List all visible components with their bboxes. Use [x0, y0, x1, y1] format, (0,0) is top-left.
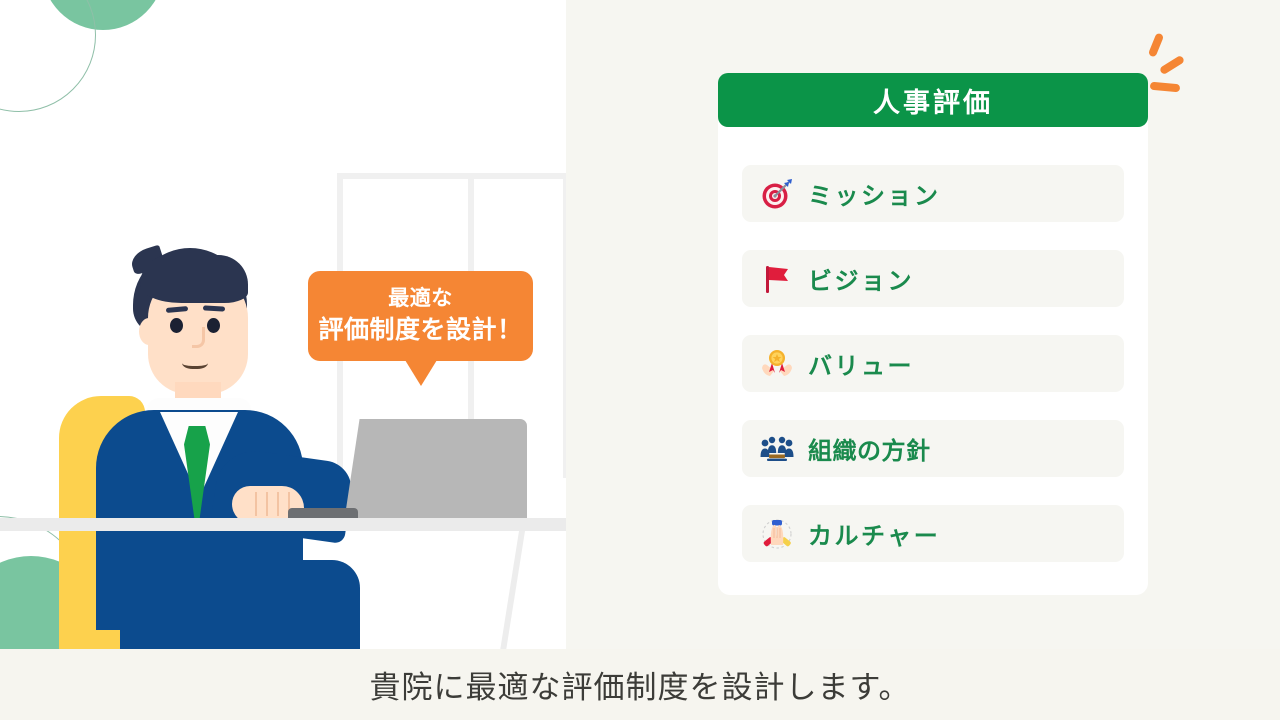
card-title: 人事評価	[873, 81, 993, 120]
person-nose	[192, 327, 205, 348]
person-mouth	[182, 354, 208, 369]
red-flag-icon	[760, 262, 794, 296]
speech-bubble-line-2: 評価制度を設計！	[318, 315, 522, 346]
list-item-culture[interactable]: カルチャー	[742, 505, 1124, 562]
speech-bubble: 最適な 評価制度を設計！	[308, 271, 533, 361]
hands-together-icon	[760, 517, 794, 551]
illustration-panel: 最適な 評価制度を設計！	[0, 0, 566, 649]
spark-mark-icon	[1150, 82, 1181, 93]
person-eyebrow-right	[203, 305, 225, 311]
list-item-label: ミッション	[808, 176, 941, 211]
medal-in-hands-icon	[760, 347, 794, 381]
speech-bubble-line-1: 最適な	[388, 286, 453, 312]
spark-mark-icon	[1148, 32, 1164, 57]
decorative-circle-outline-top-left	[0, 0, 96, 112]
list-item-vision[interactable]: ビジョン	[742, 250, 1124, 307]
hr-evaluation-card: 人事評価 ミッション	[718, 73, 1148, 595]
card-header: 人事評価	[718, 73, 1148, 127]
slide-root: 最適な 評価制度を設計！ 人事評価	[0, 0, 1280, 720]
speech-bubble-tail	[405, 360, 437, 386]
caption-bar: 貴院に最適な評価制度を設計します。	[0, 649, 1280, 720]
laptop-screen	[343, 419, 527, 529]
spark-mark-icon	[1159, 55, 1185, 76]
person-eye-left	[170, 318, 183, 333]
list-item-mission[interactable]: ミッション	[742, 165, 1124, 222]
card-item-list: ミッション ビジョン	[742, 165, 1124, 562]
list-item-organizational-policy[interactable]: 組織の方針	[742, 420, 1124, 477]
list-item-label: ビジョン	[808, 261, 914, 296]
person-hair-fringe	[140, 255, 248, 303]
list-item-label: バリュー	[808, 346, 914, 381]
target-dart-icon	[760, 177, 794, 211]
list-item-value[interactable]: バリュー	[742, 335, 1124, 392]
person-eye-right	[207, 318, 220, 333]
list-item-label: カルチャー	[808, 516, 940, 551]
people-meeting-icon	[760, 432, 794, 466]
list-item-label: 組織の方針	[808, 431, 931, 466]
desk-surface	[0, 518, 566, 531]
caption-text: 貴院に最適な評価制度を設計します。	[370, 662, 911, 707]
desk-leg	[500, 531, 525, 649]
